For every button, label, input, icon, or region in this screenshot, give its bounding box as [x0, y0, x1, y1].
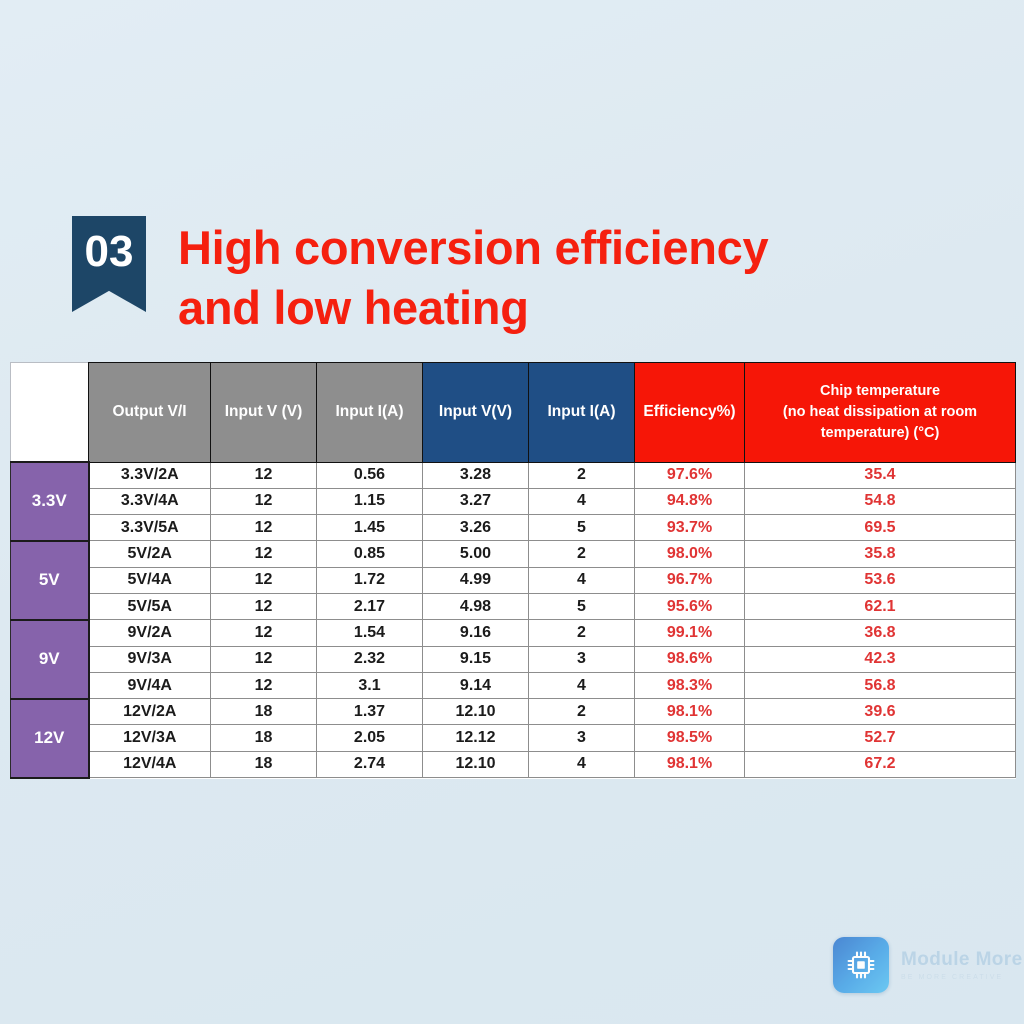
- cell-output-v: 12.12: [423, 725, 529, 751]
- cell-output-v: 3.28: [423, 462, 529, 488]
- table-row: 9V/3A 12 2.32 9.15 3 98.6% 42.3: [11, 646, 1016, 672]
- cell-chip-temperature: 53.6: [745, 567, 1016, 593]
- cell-output-vi: 9V/3A: [89, 646, 211, 672]
- cell-chip-temperature: 35.8: [745, 541, 1016, 567]
- watermark-text-block: Module More BE MORE CREATIVE: [901, 950, 1023, 981]
- header-input-i: Input I(A): [317, 363, 423, 463]
- table-row: 9V 9V/2A 12 1.54 9.16 2 99.1% 36.8: [11, 620, 1016, 646]
- cell-efficiency: 98.6%: [635, 646, 745, 672]
- table-row: 12V/4A 18 2.74 12.10 4 98.1% 67.2: [11, 751, 1016, 777]
- cell-output-v: 9.16: [423, 620, 529, 646]
- cell-chip-temperature: 62.1: [745, 593, 1016, 619]
- table-row: 5V/5A 12 2.17 4.98 5 95.6% 62.1: [11, 593, 1016, 619]
- cell-efficiency: 94.8%: [635, 488, 745, 514]
- step-number-label: 03: [85, 230, 134, 274]
- cell-input-v: 12: [211, 646, 317, 672]
- cell-output-vi: 3.3V/4A: [89, 488, 211, 514]
- cell-chip-temperature: 39.6: [745, 699, 1016, 725]
- cell-output-v: 3.26: [423, 515, 529, 541]
- cell-output-v: 9.15: [423, 646, 529, 672]
- cell-output-vi: 12V/3A: [89, 725, 211, 751]
- cell-input-v: 18: [211, 725, 317, 751]
- cell-efficiency: 95.6%: [635, 593, 745, 619]
- cell-input-v: 12: [211, 462, 317, 488]
- table-row: 5V/4A 12 1.72 4.99 4 96.7% 53.6: [11, 567, 1016, 593]
- table-row: 3.3V/4A 12 1.15 3.27 4 94.8% 54.8: [11, 488, 1016, 514]
- cell-output-vi: 3.3V/2A: [89, 462, 211, 488]
- cell-chip-temperature: 35.4: [745, 462, 1016, 488]
- chip-icon: [833, 937, 889, 993]
- cell-output-vi: 5V/4A: [89, 567, 211, 593]
- cell-input-v: 12: [211, 672, 317, 698]
- header-chip-temperature: Chip temperature (no heat dissipation at…: [745, 363, 1016, 463]
- cell-input-i: 0.56: [317, 462, 423, 488]
- cell-output-vi: 12V/4A: [89, 751, 211, 777]
- cell-output-v: 12.10: [423, 699, 529, 725]
- cell-output-i: 2: [529, 541, 635, 567]
- cell-efficiency: 97.6%: [635, 462, 745, 488]
- cell-output-i: 2: [529, 699, 635, 725]
- header-output-vi: Output V/I: [89, 363, 211, 463]
- step-number-badge: 03: [72, 216, 146, 312]
- header-output-i: Input I(A): [529, 363, 635, 463]
- header-output-v: Input V(V): [423, 363, 529, 463]
- cell-input-i: 2.74: [317, 751, 423, 777]
- cell-output-v: 4.99: [423, 567, 529, 593]
- cell-output-i: 2: [529, 620, 635, 646]
- cell-input-v: 12: [211, 515, 317, 541]
- cell-output-i: 5: [529, 515, 635, 541]
- cell-input-i: 2.05: [317, 725, 423, 751]
- cell-output-vi: 9V/2A: [89, 620, 211, 646]
- cell-input-v: 12: [211, 541, 317, 567]
- cell-output-vi: 9V/4A: [89, 672, 211, 698]
- cell-output-i: 3: [529, 646, 635, 672]
- efficiency-spec-table: Output V/I Input V (V) Input I(A) Input …: [10, 362, 1016, 779]
- cell-efficiency: 98.1%: [635, 699, 745, 725]
- cell-input-i: 1.72: [317, 567, 423, 593]
- cell-input-v: 18: [211, 699, 317, 725]
- cell-efficiency: 98.1%: [635, 751, 745, 777]
- table-header-row: Output V/I Input V (V) Input I(A) Input …: [11, 363, 1016, 463]
- cell-output-v: 4.98: [423, 593, 529, 619]
- cell-chip-temperature: 67.2: [745, 751, 1016, 777]
- cell-output-i: 4: [529, 672, 635, 698]
- header-input-v: Input V (V): [211, 363, 317, 463]
- cell-input-i: 3.1: [317, 672, 423, 698]
- cell-chip-temperature: 56.8: [745, 672, 1016, 698]
- group-label-5v: 5V: [11, 541, 89, 620]
- cell-input-i: 2.17: [317, 593, 423, 619]
- table-row: 12V/3A 18 2.05 12.12 3 98.5% 52.7: [11, 725, 1016, 751]
- table-row: 5V 5V/2A 12 0.85 5.00 2 98.0% 35.8: [11, 541, 1016, 567]
- cell-input-i: 1.45: [317, 515, 423, 541]
- cell-output-v: 3.27: [423, 488, 529, 514]
- cell-input-i: 0.85: [317, 541, 423, 567]
- table-row: 12V 12V/2A 18 1.37 12.10 2 98.1% 39.6: [11, 699, 1016, 725]
- brand-tagline: BE MORE CREATIVE: [901, 974, 1023, 981]
- cell-efficiency: 98.5%: [635, 725, 745, 751]
- brand-name: Module More: [901, 950, 1023, 969]
- table-row: 3.3V 3.3V/2A 12 0.56 3.28 2 97.6% 35.4: [11, 462, 1016, 488]
- cell-efficiency: 96.7%: [635, 567, 745, 593]
- group-label-9v: 9V: [11, 620, 89, 699]
- cell-input-i: 1.15: [317, 488, 423, 514]
- cell-chip-temperature: 69.5: [745, 515, 1016, 541]
- cell-efficiency: 93.7%: [635, 515, 745, 541]
- cell-output-vi: 3.3V/5A: [89, 515, 211, 541]
- cell-output-i: 4: [529, 488, 635, 514]
- page-title: High conversion efficiency and low heati…: [178, 218, 768, 338]
- cell-input-v: 12: [211, 620, 317, 646]
- cell-input-v: 12: [211, 488, 317, 514]
- cell-input-i: 1.54: [317, 620, 423, 646]
- cell-output-i: 4: [529, 567, 635, 593]
- cell-input-i: 2.32: [317, 646, 423, 672]
- section-heading: 03 High conversion efficiency and low he…: [72, 216, 768, 338]
- cell-chip-temperature: 52.7: [745, 725, 1016, 751]
- cell-efficiency: 98.3%: [635, 672, 745, 698]
- cell-output-v: 5.00: [423, 541, 529, 567]
- group-label-12v: 12V: [11, 699, 89, 778]
- cell-input-v: 12: [211, 567, 317, 593]
- cell-chip-temperature: 36.8: [745, 620, 1016, 646]
- table-row: 3.3V/5A 12 1.45 3.26 5 93.7% 69.5: [11, 515, 1016, 541]
- cell-chip-temperature: 54.8: [745, 488, 1016, 514]
- cell-output-i: 2: [529, 462, 635, 488]
- header-corner-cell: [11, 363, 89, 463]
- cell-output-i: 4: [529, 751, 635, 777]
- brand-watermark: Module More BE MORE CREATIVE: [833, 937, 1023, 993]
- cell-input-i: 1.37: [317, 699, 423, 725]
- cell-input-v: 12: [211, 593, 317, 619]
- cell-input-v: 18: [211, 751, 317, 777]
- cell-efficiency: 99.1%: [635, 620, 745, 646]
- cell-efficiency: 98.0%: [635, 541, 745, 567]
- group-label-3v3: 3.3V: [11, 462, 89, 541]
- cell-output-v: 9.14: [423, 672, 529, 698]
- cell-output-vi: 5V/5A: [89, 593, 211, 619]
- table-row: 9V/4A 12 3.1 9.14 4 98.3% 56.8: [11, 672, 1016, 698]
- header-efficiency: Efficiency%): [635, 363, 745, 463]
- cell-chip-temperature: 42.3: [745, 646, 1016, 672]
- cell-output-vi: 5V/2A: [89, 541, 211, 567]
- cell-output-v: 12.10: [423, 751, 529, 777]
- cell-output-i: 5: [529, 593, 635, 619]
- cell-output-i: 3: [529, 725, 635, 751]
- cell-output-vi: 12V/2A: [89, 699, 211, 725]
